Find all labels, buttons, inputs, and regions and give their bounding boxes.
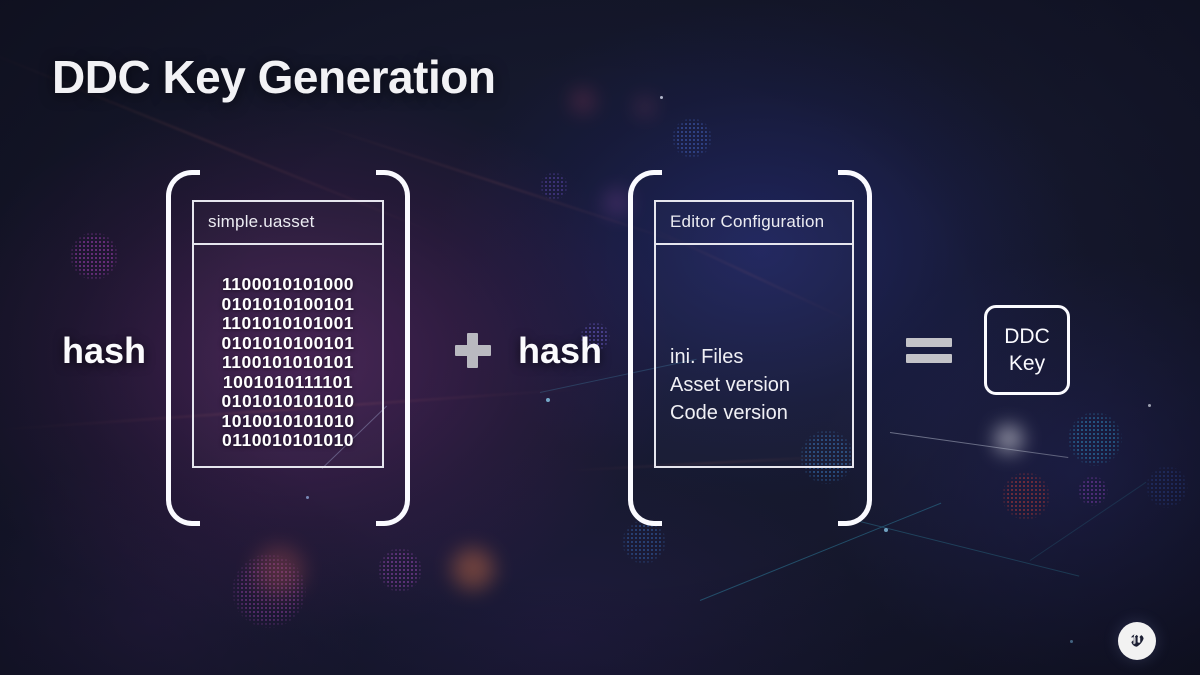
asset-bracket-group: simple.uasset 1100010101000 010101010010… (166, 170, 410, 526)
decorative-glow (452, 548, 494, 590)
binary-row: 1010010101010 (194, 412, 382, 432)
decorative-line (890, 432, 1068, 458)
binary-row: 1101010101001 (194, 314, 382, 334)
ddc-key-line-1: DDC (1004, 323, 1050, 350)
decorative-dot-sphere (540, 172, 568, 200)
slide-canvas: DDC Key Generation hash simple.uasset 11… (0, 0, 1200, 675)
decorative-dot-sphere (1078, 476, 1108, 506)
config-item: ini. Files (670, 343, 790, 371)
equals-icon (906, 338, 952, 366)
asset-card-header: simple.uasset (194, 202, 382, 245)
binary-row: 0101010100101 (194, 295, 382, 315)
decorative-star (546, 398, 550, 402)
ddc-key-result-box: DDC Key (984, 305, 1070, 395)
decorative-star (660, 96, 663, 99)
decorative-glow (636, 98, 654, 116)
config-card-body: ini. Files Asset version Code version (656, 245, 852, 470)
decorative-glow (604, 190, 630, 216)
decorative-glow (254, 546, 304, 596)
hash-label-right: hash (518, 330, 602, 372)
binary-data-list: 1100010101000 0101010100101 110101010100… (194, 275, 382, 451)
binary-row: 0110010101010 (194, 431, 382, 451)
decorative-dot-sphere (672, 118, 712, 158)
page-title: DDC Key Generation (52, 50, 495, 104)
config-card: Editor Configuration ini. Files Asset ve… (654, 200, 854, 468)
decorative-star (1070, 640, 1073, 643)
decorative-dot-sphere (1146, 466, 1188, 508)
decorative-star (884, 528, 888, 532)
decorative-dot-sphere (378, 548, 422, 592)
binary-row: 1001010111101 (194, 373, 382, 393)
decorative-dot-sphere (70, 232, 118, 280)
config-card-header: Editor Configuration (656, 202, 852, 245)
decorative-glow (572, 90, 594, 112)
asset-card: simple.uasset 1100010101000 010101010010… (192, 200, 384, 468)
config-item: Code version (670, 399, 790, 427)
binary-row: 0101010101010 (194, 392, 382, 412)
unreal-engine-logo-icon (1118, 622, 1156, 660)
decorative-dot-sphere (1002, 472, 1050, 520)
binary-row: 1100010101000 (194, 275, 382, 295)
binary-row: 1100101010101 (194, 353, 382, 373)
binary-row: 0101010100101 (194, 334, 382, 354)
asset-card-body: 1100010101000 0101010100101 110101010100… (194, 245, 382, 470)
hash-label-left: hash (62, 330, 146, 372)
ddc-key-line-2: Key (1009, 350, 1045, 377)
decorative-dot-sphere (622, 520, 666, 564)
decorative-star (1148, 404, 1151, 407)
plus-icon (455, 332, 491, 368)
decorative-dot-sphere (1068, 412, 1122, 466)
config-item: Asset version (670, 371, 790, 399)
config-bracket-group: Editor Configuration ini. Files Asset ve… (628, 170, 872, 526)
config-item-list: ini. Files Asset version Code version (670, 343, 790, 427)
